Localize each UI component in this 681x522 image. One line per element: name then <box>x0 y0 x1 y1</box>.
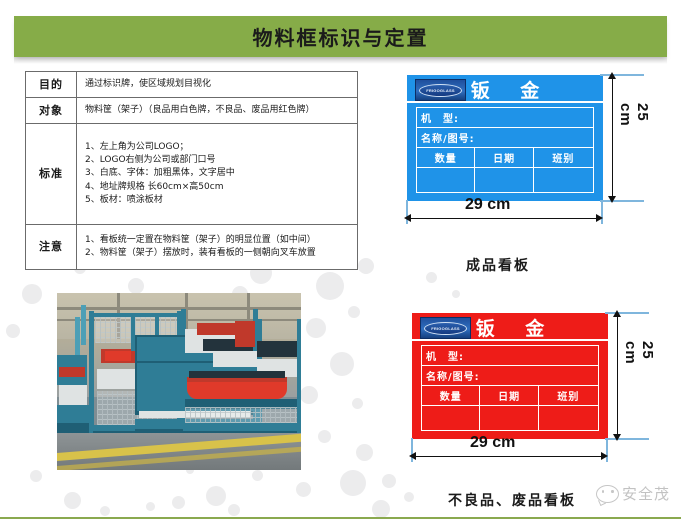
blue-label-name: 名称/图号: <box>417 128 594 148</box>
table-row-object: 对象 物料筐（架子）（良品用白色牌，不良品、废品用红色牌） <box>26 98 358 124</box>
blue-board-caption: 成品看板 <box>466 255 530 275</box>
smiley-speech-bubble-icon <box>596 485 619 503</box>
red-height-label: 25 cm <box>622 341 656 365</box>
row-label-purpose: 目的 <box>26 72 77 98</box>
watermark-text: 安全茂 <box>622 483 670 504</box>
standard-line-3: 3、白底、字体：加粗黑体，文字居中 <box>85 167 352 180</box>
red-field-row-model: 机 型: <box>422 346 599 366</box>
photo-image <box>57 293 301 470</box>
red-cell-date <box>480 406 538 431</box>
red-label-model: 机 型: <box>422 346 599 366</box>
header-banner: 物料框标识与定置 <box>14 16 667 57</box>
table-row-standard: 标准 1、左上角为公司LOGO； 2、LOGO右侧为公司或部门口号 3、白底、字… <box>26 124 358 225</box>
row-label-note: 注意 <box>26 225 77 270</box>
standard-line-5: 5、板材：喷涂板材 <box>85 194 352 207</box>
red-cell-shift <box>538 406 598 431</box>
slide-canvas: 物料框标识与定置 目的 通过标识牌，使区域规划目视化 对象 物料筐（架子）（良品… <box>0 0 681 522</box>
row-label-object: 对象 <box>26 98 77 124</box>
header-divider <box>412 339 608 341</box>
row-value-note: 1、看板统一定置在物料筐（架子）的明显位置（如中间） 2、物料筐（架子）摆放时，… <box>77 225 358 270</box>
blue-cell-date <box>475 168 533 193</box>
red-board-grid: 机 型: 名称/图号: 数量 日期 班别 <box>421 345 599 431</box>
blue-column-header-row: 数量 日期 班别 <box>417 148 594 168</box>
red-cell-qty <box>422 406 480 431</box>
blue-width-label: 29 cm <box>465 196 510 214</box>
bottom-divider <box>0 517 681 519</box>
blue-col-qty: 数量 <box>417 148 475 168</box>
factory-photo <box>57 293 301 470</box>
blue-board: FRIGOGLASS 钣 金 机 型: 名称/图号: 数量 日期 班别 <box>407 75 603 201</box>
row-value-object: 物料筐（架子）（良品用白色牌，不良品、废品用红色牌） <box>77 98 358 124</box>
red-board: FRIGOGLASS 钣 金 机 型: 名称/图号: 数量 日期 班别 <box>412 313 608 439</box>
standard-line-1: 1、左上角为公司LOGO； <box>85 141 352 154</box>
note-line-1: 1、看板统一定置在物料筐（架子）的明显位置（如中间） <box>85 234 352 247</box>
red-board-caption: 不良品、废品看板 <box>448 490 576 510</box>
blue-col-shift: 班别 <box>533 148 593 168</box>
red-field-row-name: 名称/图号: <box>422 366 599 386</box>
object-line-1: 物料筐（架子）（良品用白色牌，不良品、废品用红色牌） <box>85 104 352 117</box>
blue-label-model: 机 型: <box>417 108 594 128</box>
blue-height-label: 25 cm <box>617 103 651 127</box>
page-title: 物料框标识与定置 <box>14 16 667 57</box>
red-col-qty: 数量 <box>422 386 480 406</box>
blue-empty-row <box>417 168 594 193</box>
red-width-label: 29 cm <box>470 434 515 452</box>
red-label-name: 名称/图号: <box>422 366 599 386</box>
blue-field-row-model: 机 型: <box>417 108 594 128</box>
table-row-note: 注意 1、看板统一定置在物料筐（架子）的明显位置（如中间） 2、物料筐（架子）摆… <box>26 225 358 270</box>
standard-line-4: 4、地址牌规格 长60cm×高50cm <box>85 181 352 194</box>
red-col-date: 日期 <box>480 386 538 406</box>
blue-board-grid: 机 型: 名称/图号: 数量 日期 班别 <box>416 107 594 193</box>
standard-line-2: 2、LOGO右侧为公司或部门口号 <box>85 154 352 167</box>
table-row-purpose: 目的 通过标识牌，使区域规划目视化 <box>26 72 358 98</box>
spec-table: 目的 通过标识牌，使区域规划目视化 对象 物料筐（架子）（良品用白色牌，不良品、… <box>25 71 358 270</box>
blue-board-title: 钣 金 <box>407 75 603 103</box>
row-label-standard: 标准 <box>26 124 77 225</box>
row-value-purpose: 通过标识牌，使区域规划目视化 <box>77 72 358 98</box>
red-column-header-row: 数量 日期 班别 <box>422 386 599 406</box>
note-line-2: 2、物料筐（架子）摆放时，装有看板的一侧朝向叉车放置 <box>85 247 352 260</box>
red-board-title: 钣 金 <box>412 313 608 341</box>
red-empty-row <box>422 406 599 431</box>
watermark: 安全茂 <box>596 483 670 504</box>
row-value-standard: 1、左上角为公司LOGO； 2、LOGO右侧为公司或部门口号 3、白底、字体：加… <box>77 124 358 225</box>
red-board-header: FRIGOGLASS 钣 金 <box>412 313 608 341</box>
purpose-line-1: 通过标识牌，使区域规划目视化 <box>85 78 352 91</box>
blue-col-date: 日期 <box>475 148 533 168</box>
blue-board-header: FRIGOGLASS 钣 金 <box>407 75 603 103</box>
red-col-shift: 班别 <box>538 386 598 406</box>
header-divider <box>407 101 603 103</box>
banner-shadow <box>14 57 667 64</box>
blue-cell-shift <box>533 168 593 193</box>
blue-field-row-name: 名称/图号: <box>417 128 594 148</box>
blue-cell-qty <box>417 168 475 193</box>
